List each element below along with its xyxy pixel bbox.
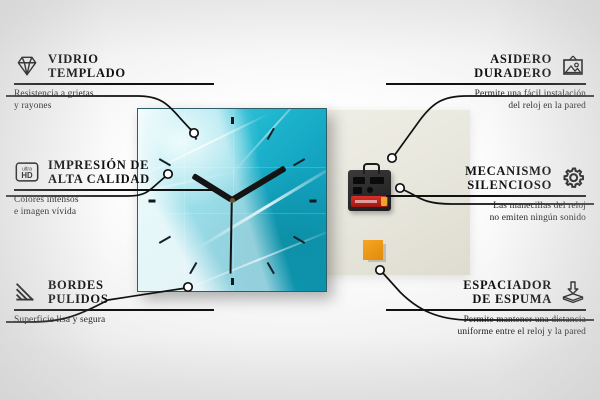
mechanism-shaft: [363, 163, 380, 174]
feature-desc: del reloj en la pared: [386, 100, 586, 112]
feature-impresion-alta-calidad: ultra HD IMPRESIÓN DE ALTA CALIDAD Color…: [14, 158, 214, 218]
feature-vidrio-templado: VIDRIO TEMPLADO Resistencia a grietas y …: [14, 52, 214, 112]
feature-title: TEMPLADO: [48, 66, 126, 80]
feature-title: MECANISMO: [465, 164, 552, 178]
feature-asidero-duradero: ASIDERO DURADERO Permite una fácil insta…: [386, 52, 586, 112]
divider: [14, 189, 214, 191]
feature-title: SILENCIOSO: [465, 178, 552, 192]
feature-desc: uniforme entre el reloj y la pared: [386, 326, 586, 338]
clock-mechanism: [348, 170, 391, 211]
divider: [14, 83, 214, 85]
feature-desc: e imagen vívida: [14, 206, 214, 218]
feature-desc: Las manecillas del reloj: [386, 200, 586, 212]
diamond-icon: [14, 53, 40, 79]
ultra-hd-icon: ultra HD: [14, 159, 40, 185]
feature-title: ALTA CALIDAD: [48, 172, 150, 186]
feature-title: DURADERO: [474, 66, 552, 80]
feature-title: DE ESPUMA: [463, 292, 552, 306]
press-down-pad-icon: [560, 279, 586, 305]
hanging-frame-icon: [560, 53, 586, 79]
clock-center-cap: [230, 198, 235, 203]
divider: [386, 83, 586, 85]
polished-edges-icon: [14, 279, 40, 305]
feature-title: BORDES: [48, 278, 108, 292]
feature-title: ESPACIADOR: [463, 278, 552, 292]
feature-title: PULIDOS: [48, 292, 108, 306]
feature-desc: Permite una fácil instalación: [386, 88, 586, 100]
feature-desc: Permite mantener una distancia: [386, 314, 586, 326]
infographic-canvas: VIDRIO TEMPLADO Resistencia a grietas y …: [0, 0, 600, 400]
feature-desc: Resistencia a grietas: [14, 88, 214, 100]
divider: [14, 309, 214, 311]
foam-spacer: [363, 240, 383, 260]
feature-title: IMPRESIÓN DE: [48, 158, 150, 172]
feature-desc: Superficie lisa y segura: [14, 314, 214, 326]
feature-desc: y rayones: [14, 100, 214, 112]
feature-desc: no emiten ningún sonido: [386, 212, 586, 224]
feature-bordes-pulidos: BORDES PULIDOS Superficie lisa y segura: [14, 278, 214, 326]
svg-text:HD: HD: [21, 171, 33, 180]
feature-espaciador-de-espuma: ESPACIADOR DE ESPUMA Permite mantener un…: [386, 278, 586, 338]
mechanism-battery: [351, 196, 388, 207]
feature-title: VIDRIO: [48, 52, 126, 66]
feature-desc: Colores intensos: [14, 194, 214, 206]
divider: [386, 195, 586, 197]
feature-mecanismo-silencioso: MECANISMO SILENCIOSO Las manecillas del …: [386, 164, 586, 224]
gear-icon: [560, 165, 586, 191]
feature-title: ASIDERO: [474, 52, 552, 66]
divider: [386, 309, 586, 311]
